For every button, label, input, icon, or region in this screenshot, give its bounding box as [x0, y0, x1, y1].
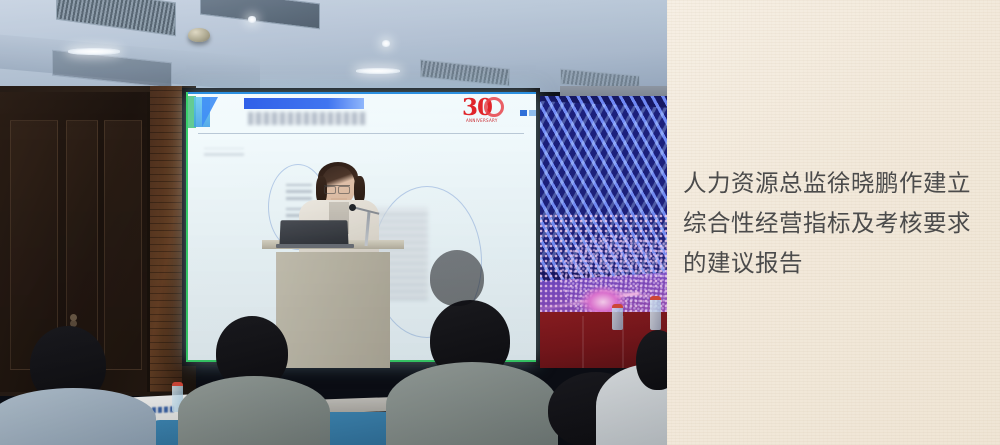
caption-line-3: 的建议报告: [683, 243, 993, 283]
water-bottle-stage-2: [612, 304, 623, 330]
microphone-head: [349, 204, 356, 211]
slide-header-bar: [244, 98, 364, 109]
logo-marks-icon: [520, 110, 536, 116]
led-display-wall: [540, 96, 667, 326]
audience-shoulders-2: [178, 376, 330, 445]
conference-photo: 30 ANNIVERSARY: [0, 0, 667, 445]
laptop[interactable]: [279, 220, 348, 246]
page-root: 30 ANNIVERSARY: [0, 0, 1000, 445]
caption-panel: 人力资源总监徐晓鹏作建立 综合性经营指标及考核要求 的建议报告: [667, 0, 1000, 445]
logo-ring-icon: [484, 97, 504, 117]
slide-text-block-3: [204, 148, 244, 156]
ceiling-downlight-2: [356, 68, 400, 74]
audience-head-6: [430, 250, 484, 306]
brick-column: [150, 86, 182, 392]
smoke-detector: [188, 28, 210, 42]
ceiling-downlight-1: [68, 48, 120, 55]
slide-accent-triangle: [202, 97, 218, 127]
slide-title-text: [248, 112, 366, 125]
audience-head-5: [636, 330, 667, 390]
presenter-glasses: [324, 185, 350, 192]
audience-shoulders-3: [386, 362, 558, 445]
podium: [276, 252, 390, 368]
laptop-base: [276, 244, 354, 248]
ceiling-downlight-4: [382, 40, 390, 47]
caption-line-1: 人力资源总监徐晓鹏作建立: [683, 163, 993, 203]
door-handle[interactable]: [70, 314, 77, 321]
logo-subtext: ANNIVERSARY: [466, 118, 498, 123]
door-panel-3: [104, 120, 142, 370]
audience-shoulders-1: [0, 388, 156, 445]
caption-text: 人力资源总监徐晓鹏作建立 综合性经营指标及考核要求 的建议报告: [683, 163, 993, 283]
caption-line-2: 综合性经营指标及考核要求: [683, 203, 993, 243]
ceiling-downlight-3: [248, 16, 256, 23]
water-bottle-stage: [650, 296, 661, 330]
slide-divider: [198, 133, 524, 134]
table-skirt-fold-1: [582, 316, 584, 368]
screen-edge-left: [186, 92, 188, 362]
anniversary-30-logo: 30 ANNIVERSARY: [462, 96, 514, 130]
